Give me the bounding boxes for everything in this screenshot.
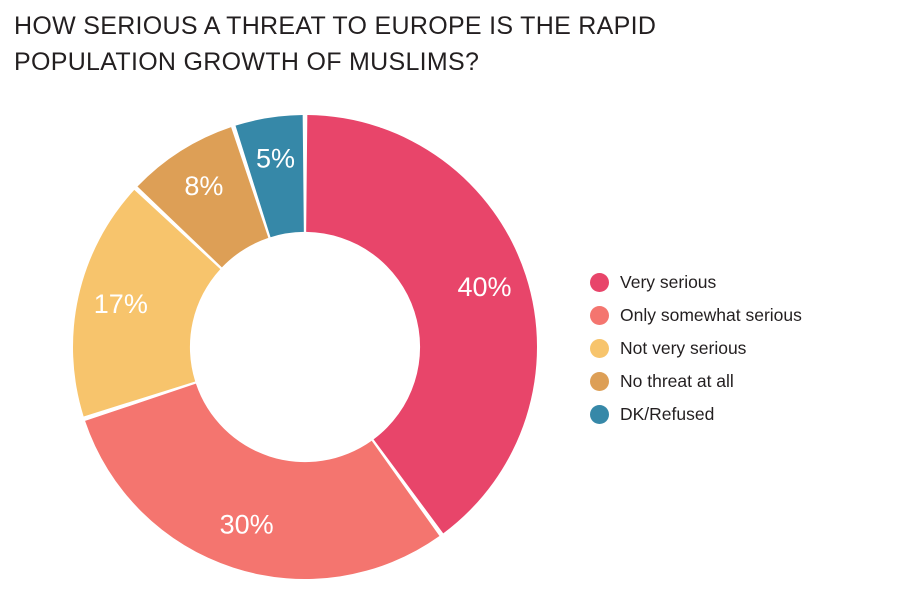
donut-svg: 40%30%17%8%5% [73,115,537,579]
legend-item-label: Only somewhat serious [620,307,802,325]
legend-swatch-icon [590,339,609,358]
chart-page: HOW SERIOUS A THREAT TO EUROPE IS THE RA… [0,0,901,605]
legend-swatch-icon [590,405,609,424]
slice-data-label: 30% [220,510,274,540]
slice-data-label: 40% [457,272,511,302]
chart-legend: Very seriousOnly somewhat seriousNot ver… [590,266,880,431]
legend-item[interactable]: Not very serious [590,332,880,365]
legend-item-label: No threat at all [620,373,734,391]
legend-item[interactable]: Very serious [590,266,880,299]
legend-item-label: Very serious [620,274,716,292]
legend-swatch-icon [590,306,609,325]
donut-chart: 40%30%17%8%5% [73,115,537,579]
legend-item[interactable]: No threat at all [590,365,880,398]
legend-item[interactable]: DK/Refused [590,398,880,431]
legend-swatch-icon [590,372,609,391]
donut-slice[interactable] [85,384,439,579]
legend-item[interactable]: Only somewhat serious [590,299,880,332]
legend-swatch-icon [590,273,609,292]
slice-data-label: 5% [256,144,295,174]
slice-data-label: 17% [94,289,148,319]
page-title: HOW SERIOUS A THREAT TO EUROPE IS THE RA… [14,8,814,80]
slice-data-label: 8% [184,171,223,201]
legend-item-label: DK/Refused [620,406,714,424]
donut-slices [73,115,537,579]
legend-item-label: Not very serious [620,340,746,358]
